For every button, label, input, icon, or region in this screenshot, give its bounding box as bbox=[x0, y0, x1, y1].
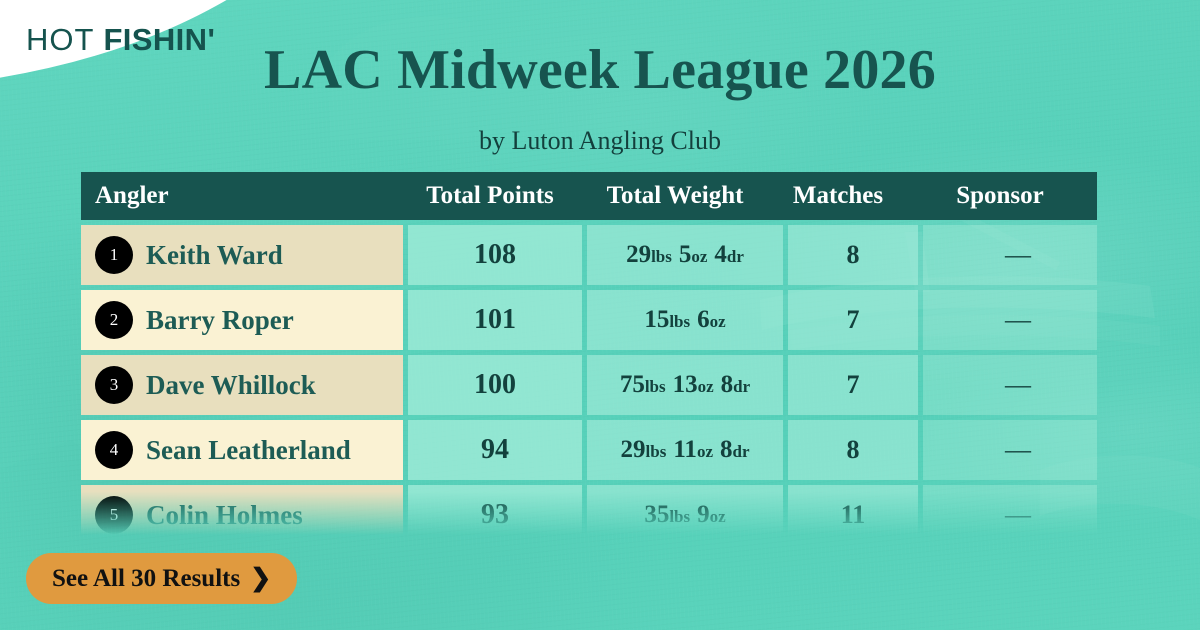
cell-total-weight: 35lbs9oz bbox=[587, 485, 783, 535]
angler-name: Sean Leatherland bbox=[146, 435, 351, 466]
rank-badge: 4 bbox=[95, 431, 133, 469]
total-weight-value: 29lbs11oz8dr bbox=[621, 436, 750, 464]
cell-sponsor: — bbox=[923, 225, 1097, 285]
cell-total-weight: 29lbs5oz4dr bbox=[587, 225, 783, 285]
weight-unit: lbs bbox=[669, 312, 690, 331]
column-header-angler: Angler bbox=[81, 182, 403, 210]
total-weight-value: 29lbs5oz4dr bbox=[626, 241, 744, 269]
cell-sponsor: — bbox=[923, 420, 1097, 480]
weight-unit: dr bbox=[732, 442, 749, 461]
cell-total-weight: 29lbs11oz8dr bbox=[587, 420, 783, 480]
cell-matches: 7 bbox=[788, 355, 918, 415]
logo-text-hot: HOT bbox=[26, 22, 94, 58]
weight-number: 13 bbox=[673, 371, 698, 398]
total-weight-value: 35lbs9oz bbox=[644, 501, 725, 529]
table-row[interactable]: 5Colin Holmes9335lbs9oz11— bbox=[81, 485, 1097, 535]
weight-number: 35 bbox=[644, 501, 669, 528]
cell-sponsor: — bbox=[923, 355, 1097, 415]
weight-number: 75 bbox=[620, 371, 645, 398]
total-points-value: 100 bbox=[474, 369, 516, 401]
cell-angler: 2Barry Roper bbox=[81, 290, 403, 350]
sponsor-value: — bbox=[1005, 372, 1031, 398]
weight-unit: oz bbox=[691, 247, 707, 266]
cell-total-weight: 15lbs6oz bbox=[587, 290, 783, 350]
weight-unit: dr bbox=[733, 377, 750, 396]
angler-name: Keith Ward bbox=[146, 240, 283, 271]
weight-unit: lbs bbox=[646, 442, 667, 461]
see-all-results-button[interactable]: See All 30 Results ❯ bbox=[26, 553, 297, 604]
matches-value: 7 bbox=[847, 305, 860, 335]
column-header-matches: Matches bbox=[773, 182, 903, 210]
cell-matches: 8 bbox=[788, 225, 918, 285]
weight-number: 6 bbox=[697, 306, 710, 333]
total-points-value: 101 bbox=[474, 304, 516, 336]
rank-badge: 3 bbox=[95, 366, 133, 404]
column-header-sponsor: Sponsor bbox=[903, 182, 1097, 210]
total-points-value: 94 bbox=[481, 434, 509, 466]
sponsor-value: — bbox=[1005, 437, 1031, 463]
matches-value: 11 bbox=[841, 500, 866, 530]
cell-angler: 4Sean Leatherland bbox=[81, 420, 403, 480]
weight-unit: oz bbox=[710, 507, 726, 526]
chevron-right-icon: ❯ bbox=[250, 566, 271, 591]
angler-name: Dave Whillock bbox=[146, 370, 316, 401]
total-points-value: 93 bbox=[481, 499, 509, 531]
cell-matches: 8 bbox=[788, 420, 918, 480]
weight-number: 5 bbox=[679, 241, 692, 268]
weight-number: 9 bbox=[697, 501, 710, 528]
matches-value: 8 bbox=[847, 240, 860, 270]
column-header-total-weight: Total Weight bbox=[577, 182, 773, 210]
weight-unit: oz bbox=[697, 442, 713, 461]
rank-badge: 2 bbox=[95, 301, 133, 339]
table-row[interactable]: 3Dave Whillock10075lbs13oz8dr7— bbox=[81, 355, 1097, 415]
matches-value: 8 bbox=[847, 435, 860, 465]
cell-angler: 3Dave Whillock bbox=[81, 355, 403, 415]
weight-unit: lbs bbox=[651, 247, 672, 266]
total-points-value: 108 bbox=[474, 239, 516, 271]
sponsor-value: — bbox=[1005, 307, 1031, 333]
matches-value: 7 bbox=[847, 370, 860, 400]
weight-unit: dr bbox=[727, 247, 744, 266]
angler-name: Colin Holmes bbox=[146, 500, 303, 531]
cell-total-points: 101 bbox=[408, 290, 582, 350]
cell-total-points: 94 bbox=[408, 420, 582, 480]
table-body: 1Keith Ward10829lbs5oz4dr8—2Barry Roper1… bbox=[81, 225, 1097, 535]
weight-number: 29 bbox=[621, 436, 646, 463]
angler-name: Barry Roper bbox=[146, 305, 294, 336]
total-weight-value: 15lbs6oz bbox=[644, 306, 725, 334]
weight-number: 8 bbox=[721, 371, 734, 398]
weight-number: 15 bbox=[644, 306, 669, 333]
leaderboard-table: Angler Total Points Total Weight Matches… bbox=[81, 172, 1097, 535]
cell-angler: 1Keith Ward bbox=[81, 225, 403, 285]
page-subtitle: by Luton Angling Club bbox=[0, 126, 1200, 156]
cell-total-points: 93 bbox=[408, 485, 582, 535]
table-header-row: Angler Total Points Total Weight Matches… bbox=[81, 172, 1097, 220]
weight-number: 11 bbox=[673, 436, 697, 463]
rank-badge: 5 bbox=[95, 496, 133, 534]
column-header-total-points: Total Points bbox=[403, 182, 577, 210]
table-row[interactable]: 1Keith Ward10829lbs5oz4dr8— bbox=[81, 225, 1097, 285]
weight-unit: lbs bbox=[645, 377, 666, 396]
weight-unit: oz bbox=[698, 377, 714, 396]
cell-sponsor: — bbox=[923, 290, 1097, 350]
see-all-results-label: See All 30 Results bbox=[52, 565, 240, 593]
cell-sponsor: — bbox=[923, 485, 1097, 535]
cell-matches: 11 bbox=[788, 485, 918, 535]
total-weight-value: 75lbs13oz8dr bbox=[620, 371, 750, 399]
weight-number: 4 bbox=[714, 241, 727, 268]
rank-badge: 1 bbox=[95, 236, 133, 274]
cell-total-points: 108 bbox=[408, 225, 582, 285]
cell-matches: 7 bbox=[788, 290, 918, 350]
logo-text-fishin: FISHIN' bbox=[103, 22, 215, 58]
weight-unit: lbs bbox=[669, 507, 690, 526]
cell-total-points: 100 bbox=[408, 355, 582, 415]
sponsor-value: — bbox=[1005, 502, 1031, 528]
cell-total-weight: 75lbs13oz8dr bbox=[587, 355, 783, 415]
cell-angler: 5Colin Holmes bbox=[81, 485, 403, 535]
weight-unit: oz bbox=[710, 312, 726, 331]
table-row[interactable]: 2Barry Roper10115lbs6oz7— bbox=[81, 290, 1097, 350]
weight-number: 29 bbox=[626, 241, 651, 268]
weight-number: 8 bbox=[720, 436, 733, 463]
table-row[interactable]: 4Sean Leatherland9429lbs11oz8dr8— bbox=[81, 420, 1097, 480]
brand-logo: HOT FISHIN' bbox=[26, 22, 215, 58]
sponsor-value: — bbox=[1005, 242, 1031, 268]
